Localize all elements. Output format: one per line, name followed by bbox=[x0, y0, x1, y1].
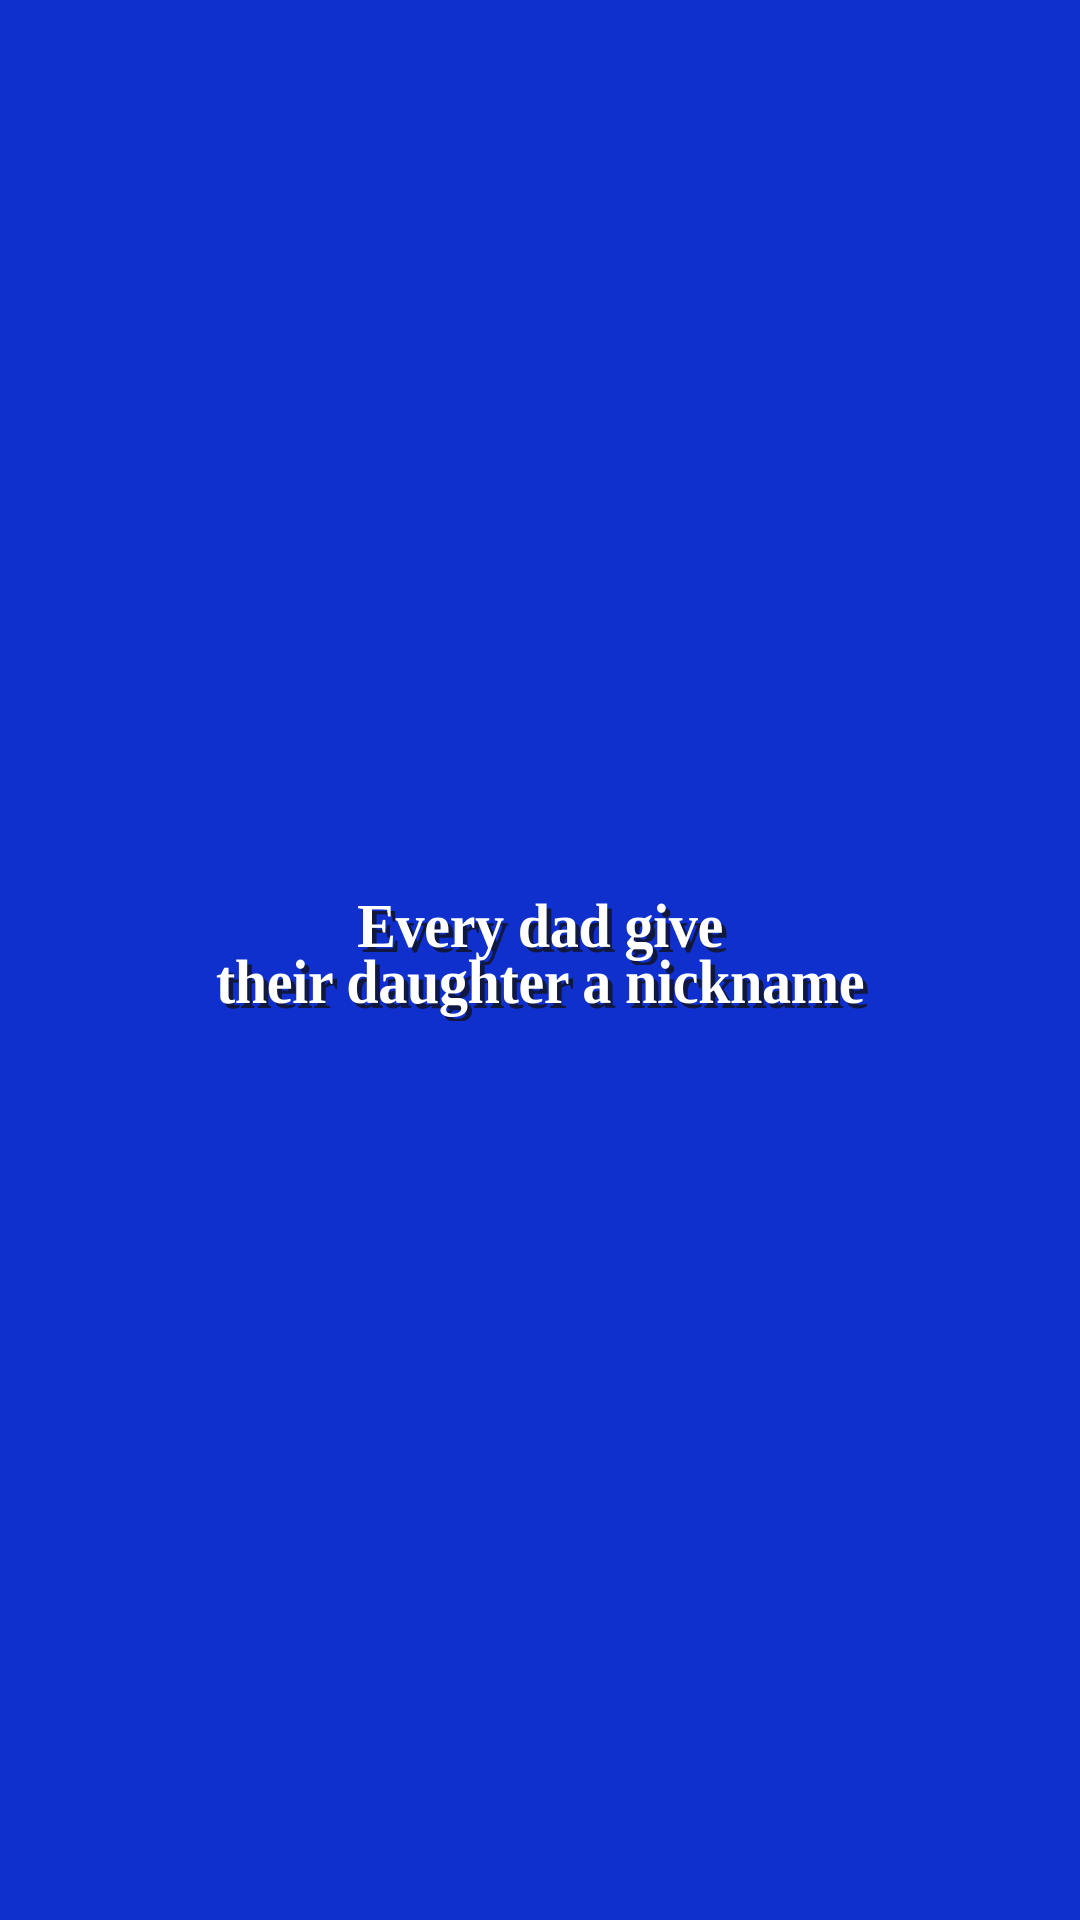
caption-line-2: their daughter a nickname bbox=[32, 955, 1047, 1011]
caption-line-1: Every dad give bbox=[32, 899, 1047, 955]
caption-block: Every dad give their daughter a nickname bbox=[0, 899, 1080, 1011]
meme-background: Every dad give their daughter a nickname bbox=[0, 0, 1080, 1920]
